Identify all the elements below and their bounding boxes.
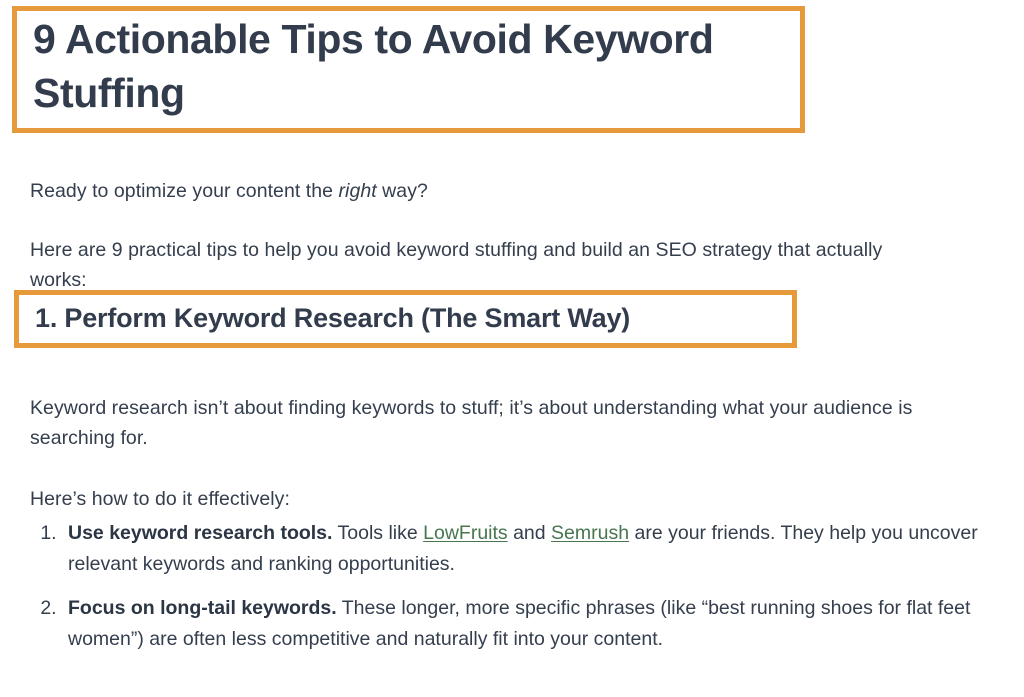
- list-item-lead: Focus on long-tail keywords.: [68, 597, 337, 619]
- title-highlight-box: 9 Actionable Tips to Avoid Keyword Stuff…: [12, 6, 805, 133]
- intro-text-before: Ready to optimize your content the: [30, 180, 339, 202]
- list-item-lead: Use keyword research tools.: [68, 522, 332, 544]
- intro-emphasis: right: [339, 180, 377, 202]
- list-item: Focus on long-tail keywords. These longe…: [62, 593, 1012, 655]
- howto-lead-paragraph: Here’s how to do it effectively:: [30, 484, 930, 514]
- list-item-text-1: Tools like: [332, 522, 423, 544]
- tips-ordered-list: Use keyword research tools. Tools like L…: [30, 518, 1012, 668]
- list-item-text-2: and: [508, 522, 551, 544]
- section-heading-highlight-box: 1. Perform Keyword Research (The Smart W…: [14, 290, 797, 348]
- lowfruits-link[interactable]: LowFruits: [423, 522, 508, 544]
- page-title: 9 Actionable Tips to Avoid Keyword Stuff…: [33, 13, 784, 120]
- semrush-link[interactable]: Semrush: [551, 522, 629, 544]
- intro-text-after: way?: [377, 180, 428, 202]
- article-page: 9 Actionable Tips to Avoid Keyword Stuff…: [0, 0, 1024, 697]
- section-heading: 1. Perform Keyword Research (The Smart W…: [35, 302, 630, 334]
- tips-lead-paragraph: Here are 9 practical tips to help you av…: [30, 235, 935, 295]
- list-item: Use keyword research tools. Tools like L…: [62, 518, 1012, 580]
- research-paragraph: Keyword research isn’t about finding key…: [30, 393, 935, 453]
- intro-paragraph: Ready to optimize your content the right…: [30, 176, 930, 206]
